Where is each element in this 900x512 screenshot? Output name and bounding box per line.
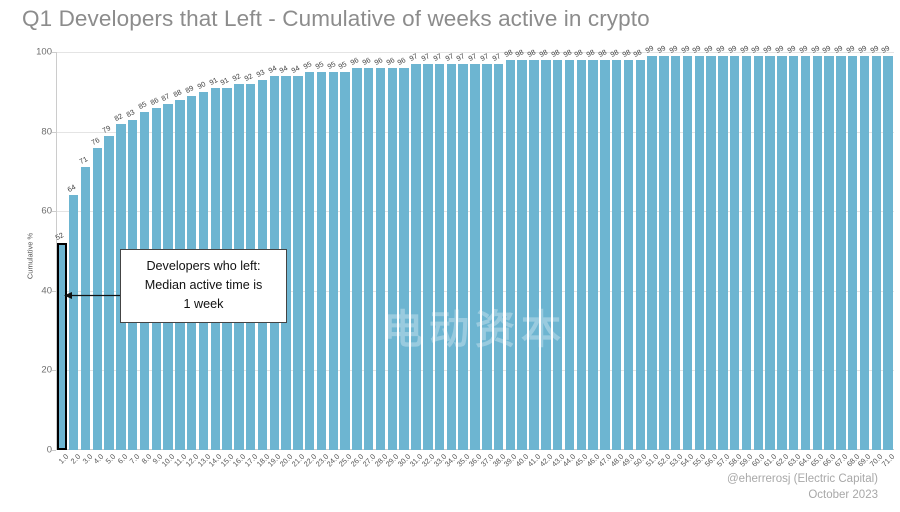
bar-value-label: 97 [455,51,466,63]
bar-value-label: 86 [148,95,159,107]
bar-value-label: 99 [715,43,726,55]
bar-value-label: 97 [491,51,502,63]
bar-value-label: 98 [609,47,620,59]
bar [435,64,444,450]
annotation-line-2: Median active time is [129,276,278,295]
bar [695,56,704,450]
bar [824,56,833,450]
bar-value-label: 98 [526,47,537,59]
bar-value-label: 91 [219,75,230,87]
bar-value-label: 93 [255,67,266,79]
bar-value-label: 52 [54,230,65,242]
bar [458,64,467,450]
bar [104,136,113,450]
bar [789,56,798,450]
bar-value-label: 99 [679,43,690,55]
bar-value-label: 91 [207,75,218,87]
annotation-line-3: 1 week [129,295,278,314]
bar-value-label: 82 [113,111,124,123]
bar-value-label: 98 [514,47,525,59]
footer-handle: @eherrerosj (Electric Capital) [727,471,878,488]
bar [718,56,727,450]
bar [541,60,550,450]
bar [329,72,338,450]
bar-value-label: 89 [184,83,195,95]
bar-value-label: 99 [644,43,655,55]
bar [340,72,349,450]
bar [883,56,892,450]
bar-value-label: 99 [656,43,667,55]
bar-value-label: 95 [314,59,325,71]
bar-value-label: 99 [856,43,867,55]
bar [305,72,314,450]
bar-value-label: 99 [797,43,808,55]
bar-value-label: 92 [243,71,254,83]
bar-value-label: 98 [597,47,608,59]
bar-value-label: 99 [809,43,820,55]
bar [388,68,397,450]
bar [494,64,503,450]
bar-value-label: 94 [266,63,277,75]
bar [81,167,90,450]
bar-value-label: 99 [750,43,761,55]
bar [588,60,597,450]
bar-value-label: 85 [137,99,148,111]
bar-value-label: 98 [585,47,596,59]
bar-value-label: 99 [691,43,702,55]
bar [376,68,385,450]
bar [777,56,786,450]
bar-value-label: 99 [762,43,773,55]
bar [813,56,822,450]
bar-value-label: 98 [620,47,631,59]
bar [836,56,845,450]
bar-value-label: 97 [443,51,454,63]
bar [517,60,526,450]
bar-value-label: 71 [77,155,88,167]
bar-value-label: 64 [66,183,77,195]
bar [636,60,645,450]
bar [600,60,609,450]
bar [411,64,420,450]
bar [730,56,739,450]
bar [671,56,680,450]
bar [529,60,538,450]
bar-value-label: 99 [703,43,714,55]
bar [553,60,562,450]
bar-value-label: 97 [467,51,478,63]
bar-value-label: 90 [196,79,207,91]
bar-value-label: 99 [868,43,879,55]
bar-value-label: 96 [361,55,372,67]
y-tick-label: 100 [12,47,52,58]
bar [364,68,373,450]
chart-footer: @eherrerosj (Electric Capital) October 2… [727,471,878,504]
median-callout-annotation: Developers who left: Median active time … [120,249,287,323]
bar-value-label: 99 [821,43,832,55]
bar [447,64,456,450]
bar [765,56,774,450]
bar-value-label: 79 [101,123,112,135]
bar-value-label: 95 [302,59,313,71]
bar-value-label: 98 [550,47,561,59]
bar-value-label: 95 [337,59,348,71]
bar-value-label: 97 [408,51,419,63]
bar-value-label: 99 [880,43,891,55]
bar-value-label: 98 [573,47,584,59]
annotation-line-1: Developers who left: [129,257,278,276]
bar-value-label: 98 [538,47,549,59]
bar-value-label: 96 [384,55,395,67]
bar [872,56,881,450]
bar [482,64,491,450]
bar [423,64,432,450]
bar [317,72,326,450]
y-tick-label: 60 [12,206,52,217]
bar-value-label: 98 [632,47,643,59]
bar [69,195,78,450]
bar [624,60,633,450]
bar-value-label: 88 [172,87,183,99]
y-tick-label: 80 [12,126,52,137]
bar [93,148,102,450]
bar [801,56,810,450]
bar [577,60,586,450]
bar-highlighted [57,243,66,450]
bar-value-label: 99 [668,43,679,55]
bar-value-label: 99 [786,43,797,55]
bar-value-label: 98 [502,47,513,59]
bar [659,56,668,450]
y-tick-mark [52,450,56,451]
bar-value-label: 97 [479,51,490,63]
bar [612,60,621,450]
bar-value-label: 97 [420,51,431,63]
y-axis-title: Cumulative % [26,233,35,279]
chart-container: Q1 Developers that Left - Cumulative of … [0,0,900,512]
bar-value-label: 96 [396,55,407,67]
bar-value-label: 99 [738,43,749,55]
bar-value-label: 98 [561,47,572,59]
bar [293,76,302,450]
y-tick-label: 20 [12,365,52,376]
bar [506,60,515,450]
bar-value-label: 96 [373,55,384,67]
y-tick-label: 40 [12,285,52,296]
bar-value-label: 99 [727,43,738,55]
y-tick-label: 0 [12,445,52,456]
bar [754,56,763,450]
bar-value-label: 92 [231,71,242,83]
bar-value-label: 94 [290,63,301,75]
bar [470,64,479,450]
bar [848,56,857,450]
bar-value-label: 87 [160,91,171,103]
bar-value-label: 95 [325,59,336,71]
bar-value-label: 94 [278,63,289,75]
bar-value-label: 96 [349,55,360,67]
bar-value-label: 76 [89,135,100,147]
bar [647,56,656,450]
chart-title: Q1 Developers that Left - Cumulative of … [22,6,650,32]
bar [399,68,408,450]
bar [565,60,574,450]
bar-value-label: 83 [125,107,136,119]
bar-value-label: 97 [432,51,443,63]
bar-value-label: 99 [833,43,844,55]
bar-value-label: 99 [774,43,785,55]
footer-date: October 2023 [727,487,878,504]
bar [706,56,715,450]
bar [860,56,869,450]
bar [742,56,751,450]
bar [352,68,361,450]
bar [683,56,692,450]
bar-value-label: 99 [845,43,856,55]
